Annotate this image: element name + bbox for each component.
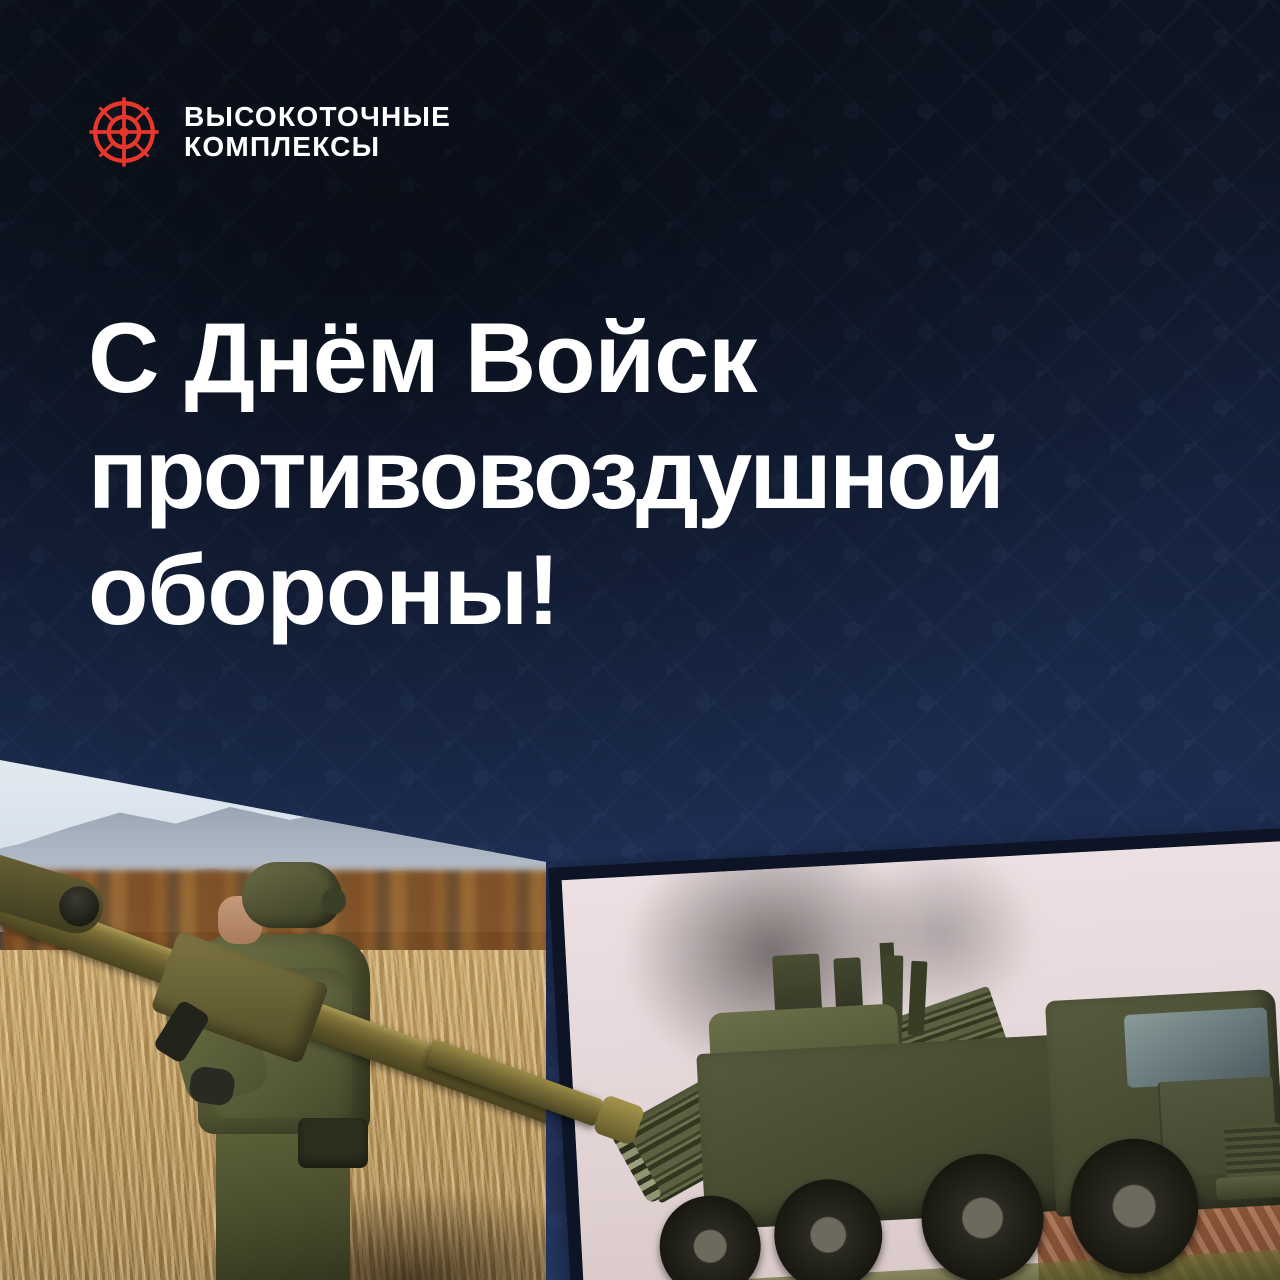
- soldier-glove-rear: [188, 1065, 237, 1107]
- headline-line-2: противовоздушной: [88, 416, 1148, 532]
- brand-name: ВЫСОКОТОЧНЫЕ КОМПЛЕКСЫ: [184, 102, 451, 162]
- brand-logo[interactable]: ВЫСОКОТОЧНЫЕ КОМПЛЕКСЫ: [88, 96, 451, 168]
- page-title: С Днём Войск противовоздушной обороны!: [88, 300, 1148, 647]
- soldier-pouch: [298, 1118, 368, 1168]
- right-photo-scene: [562, 841, 1280, 1280]
- front-bumper: [1216, 1175, 1280, 1200]
- pantsir-s1-vehicle: [610, 921, 1280, 1280]
- headline-line-3: обороны!: [88, 532, 1148, 648]
- soldier-helmet: [242, 862, 342, 928]
- crosshair-center-dot: [119, 127, 128, 136]
- crosshair-target-icon: [88, 96, 160, 168]
- photo-band: [0, 700, 1280, 1280]
- headline-line-1: С Днём Войск: [88, 300, 1148, 416]
- pantsir-s1-photo: [548, 827, 1280, 1280]
- windshield: [1124, 1007, 1270, 1088]
- poster-canvas: ВЫСОКОТОЧНЫЕ КОМПЛЕКСЫ С Днём Войск прот…: [0, 0, 1280, 1280]
